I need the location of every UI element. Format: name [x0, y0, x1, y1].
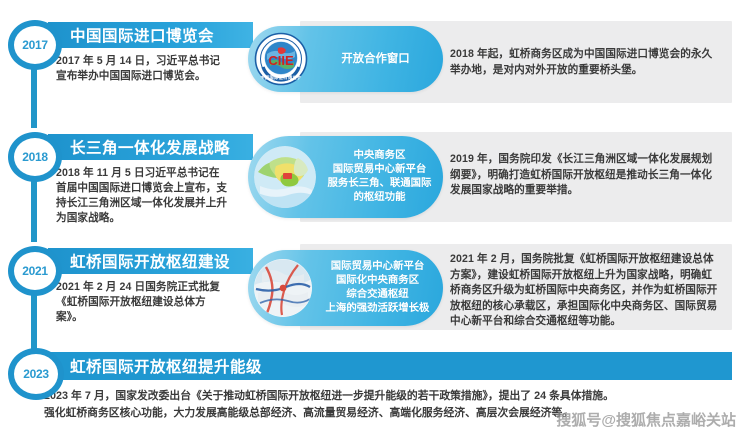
yangtze-delta-map-icon: [254, 146, 316, 208]
row-title-bar-2023: 虹桥国际开放枢纽提升能级: [44, 352, 732, 380]
row-description-2017: 2017 年 5 月 14 日，习近平总书记宣布举办中国国际进口博览会。: [56, 54, 224, 84]
row-title-2021: 虹桥国际开放枢纽建设: [48, 250, 230, 272]
right-panel-text-2021: 2021 年 2 月，国务院批复《虹桥国际开放枢纽建设总体方案》，建设虹桥国际开…: [450, 252, 722, 330]
timeline-infographic: 中国国际进口博览会 2017 2017 年 5 月 14 日，习近平总书记宣布举…: [0, 0, 740, 432]
timeline-spine-1: [31, 60, 37, 128]
year-label-2017: 2017: [22, 39, 48, 51]
highlight-pill-2021[interactable]: 国际贸易中心新平台 国际化中央商务区 综合交通枢纽 上海的强劲活跃增长极: [248, 250, 443, 326]
year-label-2018: 2018: [22, 151, 48, 163]
svg-text:CIIE: CIIE: [268, 53, 294, 68]
highlight-pill-2018[interactable]: 中央商务区 国际贸易中心新平台 服务长三角、联通国际 的枢纽功能: [248, 136, 443, 218]
year-badge-2017[interactable]: 2017: [8, 20, 62, 70]
row-title-2017: 中国国际进口博览会: [48, 24, 214, 46]
highlight-pill-text-2018: 中央商务区 国际贸易中心新平台 服务长三角、联通国际 的枢纽功能: [316, 149, 443, 205]
row-title-2018: 长三角一体化发展战略: [48, 136, 230, 158]
transport-hub-map-icon: [254, 259, 312, 317]
row-title-bar-2017: 中国国际进口博览会: [48, 22, 253, 48]
timeline-spine-3: [31, 288, 37, 354]
year-label-2023: 2023: [23, 368, 49, 380]
highlight-pill-2017[interactable]: CIIE 中国国际进口博览会 开放合作窗口: [248, 26, 443, 92]
right-panel-text-2018: 2019 年，国务院印发《长江三角洲区域一体化发展规划纲要》，明确打造虹桥国际开…: [450, 152, 718, 199]
year-badge-2023[interactable]: 2023: [8, 348, 64, 400]
watermark-text: 搜狐号@搜狐焦点嘉峪关站: [556, 409, 736, 430]
row-title-bar-2021: 虹桥国际开放枢纽建设: [48, 248, 253, 274]
year-badge-2018[interactable]: 2018: [8, 132, 62, 182]
timeline-spine-2: [31, 172, 37, 242]
row-title-bar-2018: 长三角一体化发展战略: [48, 134, 253, 160]
row-title-2023: 虹桥国际开放枢纽提升能级: [44, 355, 262, 377]
right-panel-text-2017: 2018 年起，虹桥商务区成为中国国际进口博览会的永久举办地，是对内对外开放的重…: [450, 47, 716, 78]
highlight-pill-text-2017: 开放合作窗口: [308, 52, 443, 66]
highlight-pill-text-2021: 国际贸易中心新平台 国际化中央商务区 综合交通枢纽 上海的强劲活跃增长极: [312, 260, 443, 316]
svg-text:中国国际进口博览会: 中国国际进口博览会: [260, 74, 302, 81]
row-description-2018: 2018 年 11 月 5 日习近平总书记在首届中国国际进口博览会上宣布，支持长…: [56, 166, 228, 226]
row-description-2021: 2021 年 2 月 24 日国务院正式批复《虹桥国际开放枢纽建设总体方案》。: [56, 280, 228, 325]
year-label-2021: 2021: [22, 265, 48, 277]
year-badge-2021[interactable]: 2021: [8, 246, 62, 296]
ciie-emblem-icon: CIIE 中国国际进口博览会: [254, 32, 308, 86]
